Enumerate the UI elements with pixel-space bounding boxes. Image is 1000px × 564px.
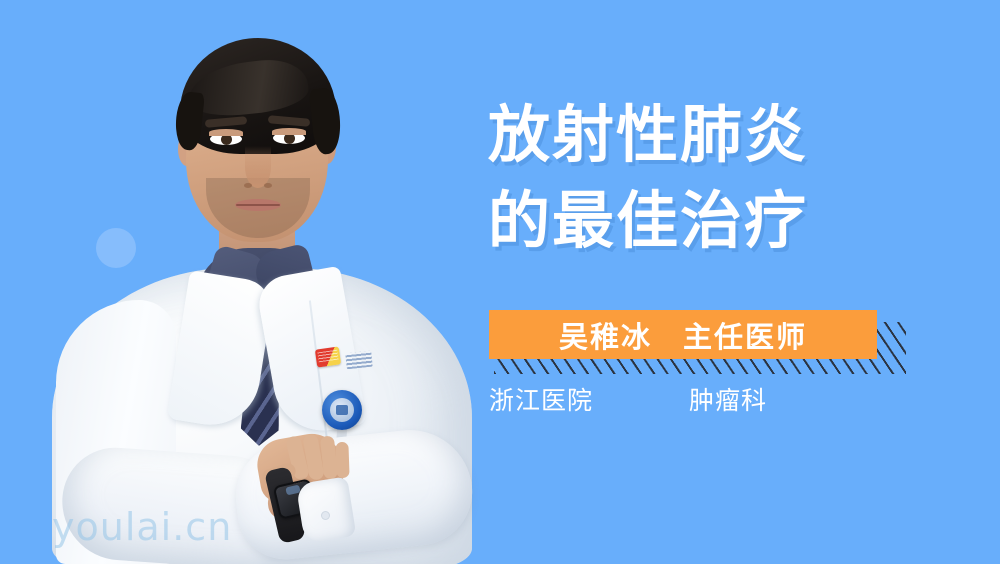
nostril-left: [244, 183, 252, 188]
finger-4: [335, 442, 349, 478]
doctor-portrait-photo: youlai.cn: [0, 0, 500, 564]
watermark-text: youlai.cn: [52, 504, 252, 550]
sleeve-cuff-button: [322, 512, 329, 519]
hospital-name: 浙江医院: [489, 381, 689, 417]
page-title-line-2: 的最佳治疗: [488, 178, 940, 264]
page-title: 放射性肺炎 的最佳治疗: [488, 92, 940, 264]
page-title-line-1: 放射性肺炎: [488, 92, 940, 178]
department-name: 肿瘤科: [689, 381, 767, 417]
eyelid-left: [209, 129, 243, 136]
sleeve-cuff: [296, 476, 357, 543]
mouth-line: [236, 204, 280, 206]
affiliation-row: 浙江医院 肿瘤科: [489, 381, 889, 417]
thumbnail-canvas: youlai.cn 放射性肺炎 的最佳治疗 吴稚冰 主任医师 浙江医院 肿瘤科: [0, 0, 1000, 564]
nose: [245, 146, 271, 188]
badge-reel-mark: [336, 405, 348, 415]
doctor-name-badge-label: 吴稚冰 主任医师: [489, 310, 877, 359]
eyelid-right: [272, 128, 306, 135]
nostril-right: [264, 183, 272, 188]
coat-embroidery: [345, 351, 373, 370]
